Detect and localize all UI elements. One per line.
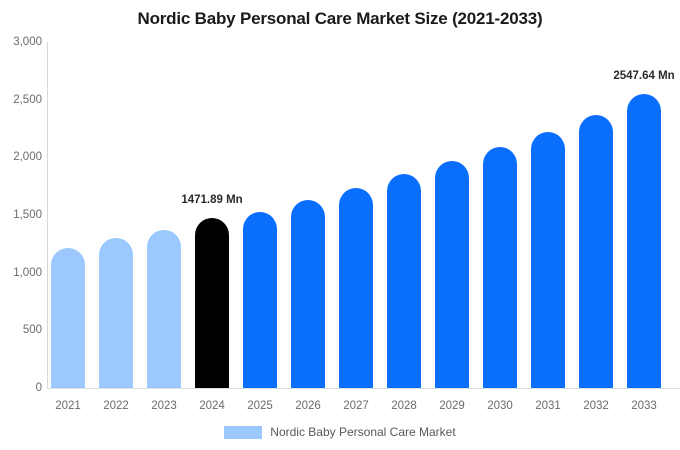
y-axis-tick-label: 1,500	[2, 209, 42, 221]
bar-value-label-2033: 2547.64 Mn	[613, 70, 674, 82]
y-axis-tick-label: 500	[2, 324, 42, 336]
bar-2029[interactable]	[435, 42, 469, 388]
bar-rect-2031	[531, 132, 565, 388]
y-axis-tick-label: 2,000	[2, 151, 42, 163]
x-axis-tick-label-2021: 2021	[51, 400, 85, 412]
y-axis-tick-label: 1,000	[2, 267, 42, 279]
bar-rect-2030	[483, 147, 517, 388]
y-axis-tick-label: 2,500	[2, 94, 42, 106]
x-axis-line	[47, 388, 680, 389]
bar-2031[interactable]	[531, 42, 565, 388]
x-axis-tick-label-2027: 2027	[339, 400, 373, 412]
x-axis-tick-label-2028: 2028	[387, 400, 421, 412]
x-axis-tick-label-2024: 2024	[195, 400, 229, 412]
bar-rect-2021	[51, 248, 85, 388]
y-axis-tick-label: 0	[2, 382, 42, 394]
bar-rect-2026	[291, 200, 325, 388]
bar-rect-2023	[147, 230, 181, 388]
chart-title: Nordic Baby Personal Care Market Size (2…	[0, 9, 680, 29]
bar-2032[interactable]	[579, 42, 613, 388]
bar-rect-2025	[243, 212, 277, 388]
bar-2028[interactable]	[387, 42, 421, 388]
x-axis-tick-label-2023: 2023	[147, 400, 181, 412]
bar-2023[interactable]	[147, 42, 181, 388]
bar-2027[interactable]	[339, 42, 373, 388]
bar-2024[interactable]	[195, 42, 229, 388]
bar-rect-2029	[435, 161, 469, 388]
x-axis-tick-label-2026: 2026	[291, 400, 325, 412]
x-axis-tick-label-2032: 2032	[579, 400, 613, 412]
x-axis-tick-label-2033: 2033	[627, 400, 661, 412]
bar-rect-2022	[99, 238, 133, 388]
bar-rect-2032	[579, 115, 613, 388]
x-axis-tick-label-2030: 2030	[483, 400, 517, 412]
bar-2021[interactable]	[51, 42, 85, 388]
bar-2026[interactable]	[291, 42, 325, 388]
legend-label: Nordic Baby Personal Care Market	[270, 425, 455, 439]
bar-rect-2028	[387, 174, 421, 388]
bar-rect-2033	[627, 94, 661, 388]
bar-2030[interactable]	[483, 42, 517, 388]
bar-chart: Nordic Baby Personal Care Market Size (2…	[0, 0, 680, 450]
legend-swatch-nordic-baby-personal-care-market	[224, 426, 262, 439]
y-axis-tick-label: 3,000	[2, 36, 42, 48]
bar-value-label-2024: 1471.89 Mn	[181, 194, 242, 206]
y-axis: 05001,0001,5002,0002,5003,000	[0, 0, 42, 450]
x-axis-tick-label-2022: 2022	[99, 400, 133, 412]
bar-rect-2024	[195, 218, 229, 388]
bar-2022[interactable]	[99, 42, 133, 388]
chart-legend: Nordic Baby Personal Care Market	[0, 425, 680, 439]
x-axis-tick-label-2025: 2025	[243, 400, 277, 412]
bar-2025[interactable]	[243, 42, 277, 388]
x-axis-tick-label-2029: 2029	[435, 400, 469, 412]
x-axis-tick-label-2031: 2031	[531, 400, 565, 412]
bar-rect-2027	[339, 188, 373, 388]
bar-2033[interactable]	[627, 42, 661, 388]
